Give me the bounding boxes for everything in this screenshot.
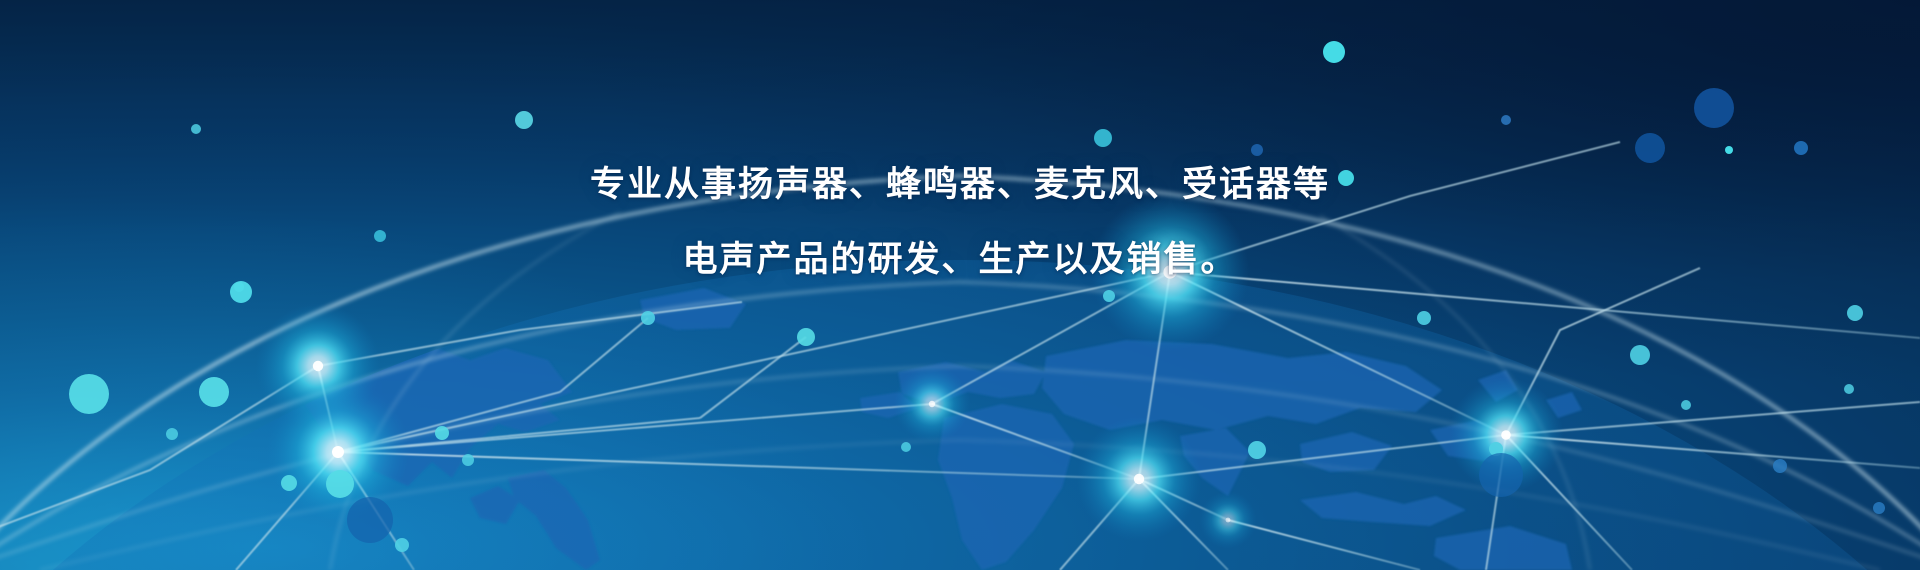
particle-dot xyxy=(797,328,815,346)
particle-dot xyxy=(1794,141,1808,155)
particle-dot xyxy=(230,281,252,303)
particle-dot xyxy=(1773,459,1787,473)
particle-dot xyxy=(515,111,533,129)
particle-dot xyxy=(1338,170,1354,186)
particle-dot xyxy=(191,124,201,134)
particle-dot xyxy=(1501,115,1511,125)
flat-dot-group xyxy=(69,41,1885,552)
particle-dot xyxy=(395,538,409,552)
network-nodes xyxy=(0,0,1920,570)
particle-dot xyxy=(1479,453,1523,497)
particle-dot xyxy=(1635,133,1665,163)
particle-dot xyxy=(1873,502,1885,514)
network-node-core xyxy=(332,446,344,458)
particle-dot xyxy=(1251,144,1263,156)
particle-dot xyxy=(1323,41,1345,63)
particle-dot xyxy=(1103,290,1115,302)
particle-dot xyxy=(347,497,393,543)
particle-dot xyxy=(69,374,109,414)
particle-dot xyxy=(435,426,449,440)
particle-dot xyxy=(1630,345,1650,365)
particle-dot xyxy=(901,442,911,452)
particle-dot xyxy=(1725,146,1733,154)
network-node-core xyxy=(1501,430,1511,440)
particle-dot xyxy=(1681,400,1691,410)
particle-dot xyxy=(1694,88,1734,128)
particle-dot xyxy=(166,428,178,440)
network-node-core xyxy=(1163,265,1176,278)
particle-dot xyxy=(1248,441,1266,459)
particle-dot xyxy=(1094,129,1112,147)
particle-dot xyxy=(1847,305,1863,321)
particle-dot xyxy=(1417,311,1431,325)
particle-dot xyxy=(326,470,354,498)
particle-dot xyxy=(641,311,655,325)
network-node-core xyxy=(313,361,323,371)
hero-banner: 专业从事扬声器、蜂鸣器、麦克风、受话器等 电声产品的研发、生产以及销售。 xyxy=(0,0,1920,570)
particle-dot xyxy=(281,475,297,491)
particle-dot xyxy=(462,454,474,466)
network-node-core xyxy=(929,401,935,407)
particle-dot xyxy=(1844,384,1854,394)
particle-dot xyxy=(374,230,386,242)
glow-node-group xyxy=(256,193,1564,570)
network-node-core xyxy=(1226,518,1231,523)
particle-dot xyxy=(199,377,229,407)
network-node-core xyxy=(1134,474,1144,484)
